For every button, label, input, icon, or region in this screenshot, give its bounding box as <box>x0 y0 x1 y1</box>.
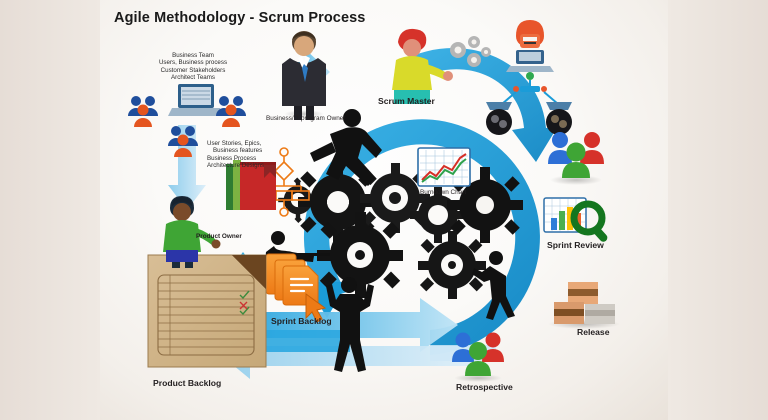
notepad-icon <box>148 255 266 367</box>
business-team-line-4: Architect Teams <box>118 74 268 81</box>
product-backlog-label: Product Backlog <box>153 378 221 388</box>
bar-chart-magnifier-icon <box>544 198 609 243</box>
retrospective-label: Retrospective <box>456 382 513 392</box>
business-team-line-1: Business Team <box>118 52 268 59</box>
slide-canvas: Agile Methodology - Scrum Process <box>0 0 768 420</box>
scrum-master-label: Scrum Master <box>378 96 435 106</box>
business-team-line-2: Users, Business process <box>118 59 268 66</box>
artifacts-block: User Stories, Epics, Business features B… <box>207 140 264 169</box>
artifact-line-3: Business Process <box>207 155 264 162</box>
product-owner-label: Product Owner <box>196 233 242 241</box>
cardboard-boxes-icon <box>548 282 620 329</box>
artifact-line-4: Architecture Designs <box>207 162 264 169</box>
diagram-area: Agile Methodology - Scrum Process <box>100 0 668 420</box>
laptop-with-people-icon <box>168 84 224 116</box>
line-chart-icon <box>418 148 470 186</box>
release-label: Release <box>577 327 610 337</box>
sprint-backlog-label: Sprint Backlog <box>271 316 332 326</box>
three-people-group-icon-right <box>548 132 604 185</box>
artifact-line-2: Business features <box>207 147 264 154</box>
businessman-icon <box>282 31 326 120</box>
left-margin-band <box>0 0 100 420</box>
business-team-line-3: Customer Stakeholders <box>118 67 268 74</box>
sprint-review-label: Sprint Review <box>547 240 604 250</box>
business-team-block: Business Team Users, Business process Cu… <box>118 52 268 81</box>
artifact-line-1: User Stories, Epics, <box>207 140 264 147</box>
program-owner-label: Business/IT program Owner <box>266 115 345 123</box>
right-margin-band <box>668 0 768 420</box>
burndown-chart-label: Burndown Chart <box>420 189 466 197</box>
